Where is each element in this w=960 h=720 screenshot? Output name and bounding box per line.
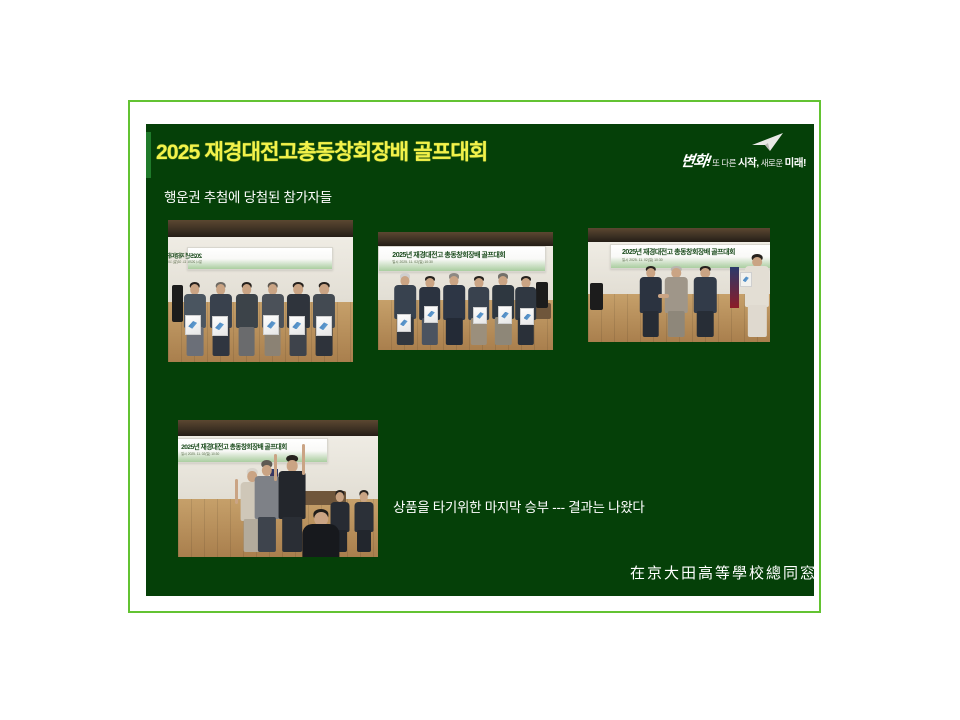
slide-stage: 2025 재경대전고총동창회장배 골프대회 변화! 또 다른 시작, 새로운 미… (0, 0, 960, 720)
title-row: 2025 재경대전고총동창회장배 골프대회 변화! 또 다른 시작, 새로운 미… (146, 132, 814, 178)
brand-word: 변화! (679, 150, 712, 171)
brand-sub-4: 미래! (785, 155, 806, 170)
footer-organization: 在京大田高等學校總同窓會 (630, 562, 814, 583)
title-accent-bar (146, 132, 151, 178)
brand-sub-2: 시작, (738, 155, 759, 170)
brand-sub-1: 또 다른 (712, 157, 736, 169)
brand-tagline: 변화! 또 다른 시작, 새로운 미래! (681, 150, 806, 171)
photo-award-handshake: 2025년 재경대전고 총동창회장배 골프대회 일시 2025. 11. 02(… (588, 228, 770, 342)
photo-final-game: 2025년 재경대전고 총동창회장배 골프대회 일시 2025. 11. 02(… (178, 420, 378, 557)
brand-sub-3: 새로운 (761, 157, 783, 169)
slide-panel: 2025 재경대전고총동창회장배 골프대회 변화! 또 다른 시작, 새로운 미… (146, 124, 814, 596)
page-title: 2025 재경대전고총동창회장배 골프대회 (156, 136, 487, 166)
caption-final-match: 상품을 타기위한 마지막 승부 --- 결과는 나왔다 (393, 496, 644, 516)
photo-prize-winners-lineup: 2025년 재경대전고 총동창회장배 골프대회 일시 2025. 11. 02(… (378, 232, 553, 350)
brand-logo: 변화! 또 다른 시작, 새로운 미래! (626, 132, 806, 178)
paper-plane-icon (750, 132, 784, 152)
caption-lucky-draw: 행운권 추첨에 당첨된 참가자들 (164, 186, 332, 206)
photo-prize-winners-group: 2025년 재경대전고 총동창회장배 골프대회 일시 2025. 11. 02(… (168, 220, 353, 362)
